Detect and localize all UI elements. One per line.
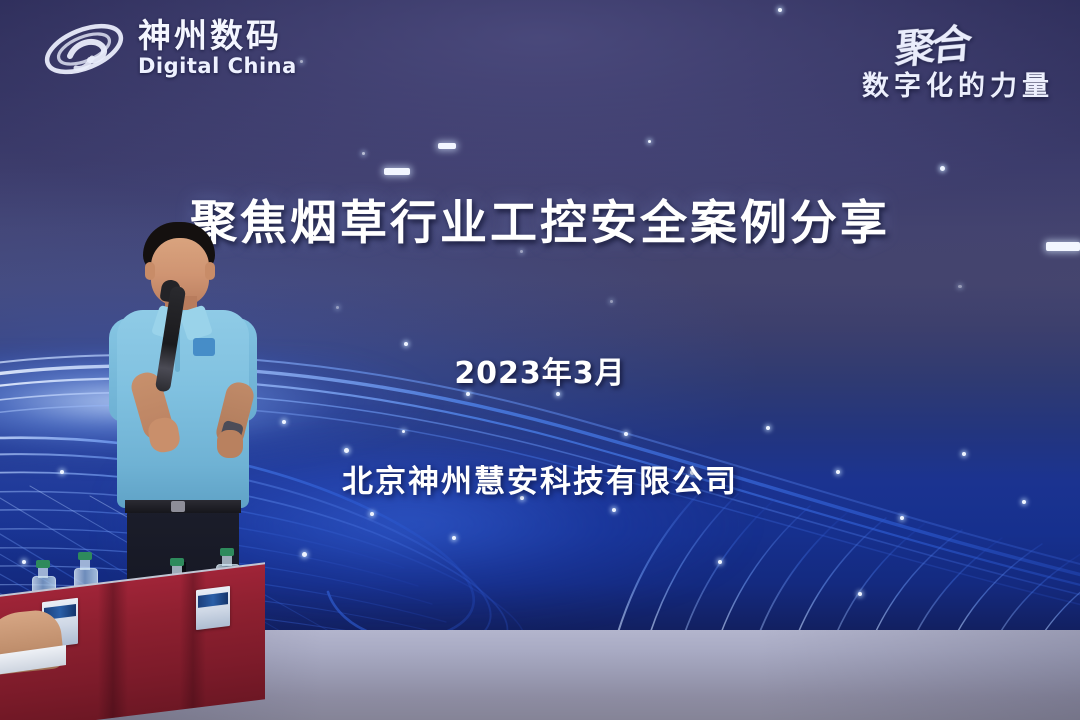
speaker-hand-right (217, 430, 243, 458)
speaker-ear-right (205, 262, 215, 280)
speaker-belt-buckle (171, 501, 185, 512)
speaker-ear-left (145, 262, 155, 280)
speaker-shirt-logo (193, 338, 215, 356)
name-card (196, 586, 230, 630)
screenshot-root: 神州数码 Digital China 聚合 数字化的力量 聚焦烟草行业工控安全案… (0, 0, 1080, 720)
digital-china-swirl-icon (42, 16, 126, 82)
brand-name-en: Digital China (138, 54, 297, 79)
event-logo: 聚合 数字化的力量 (862, 14, 1054, 103)
event-calligraphy: 聚合 (894, 11, 971, 75)
event-slogan: 数字化的力量 (862, 64, 1054, 103)
brand-name-cn: 神州数码 (138, 19, 297, 54)
digital-china-logo: 神州数码 Digital China (42, 16, 297, 82)
